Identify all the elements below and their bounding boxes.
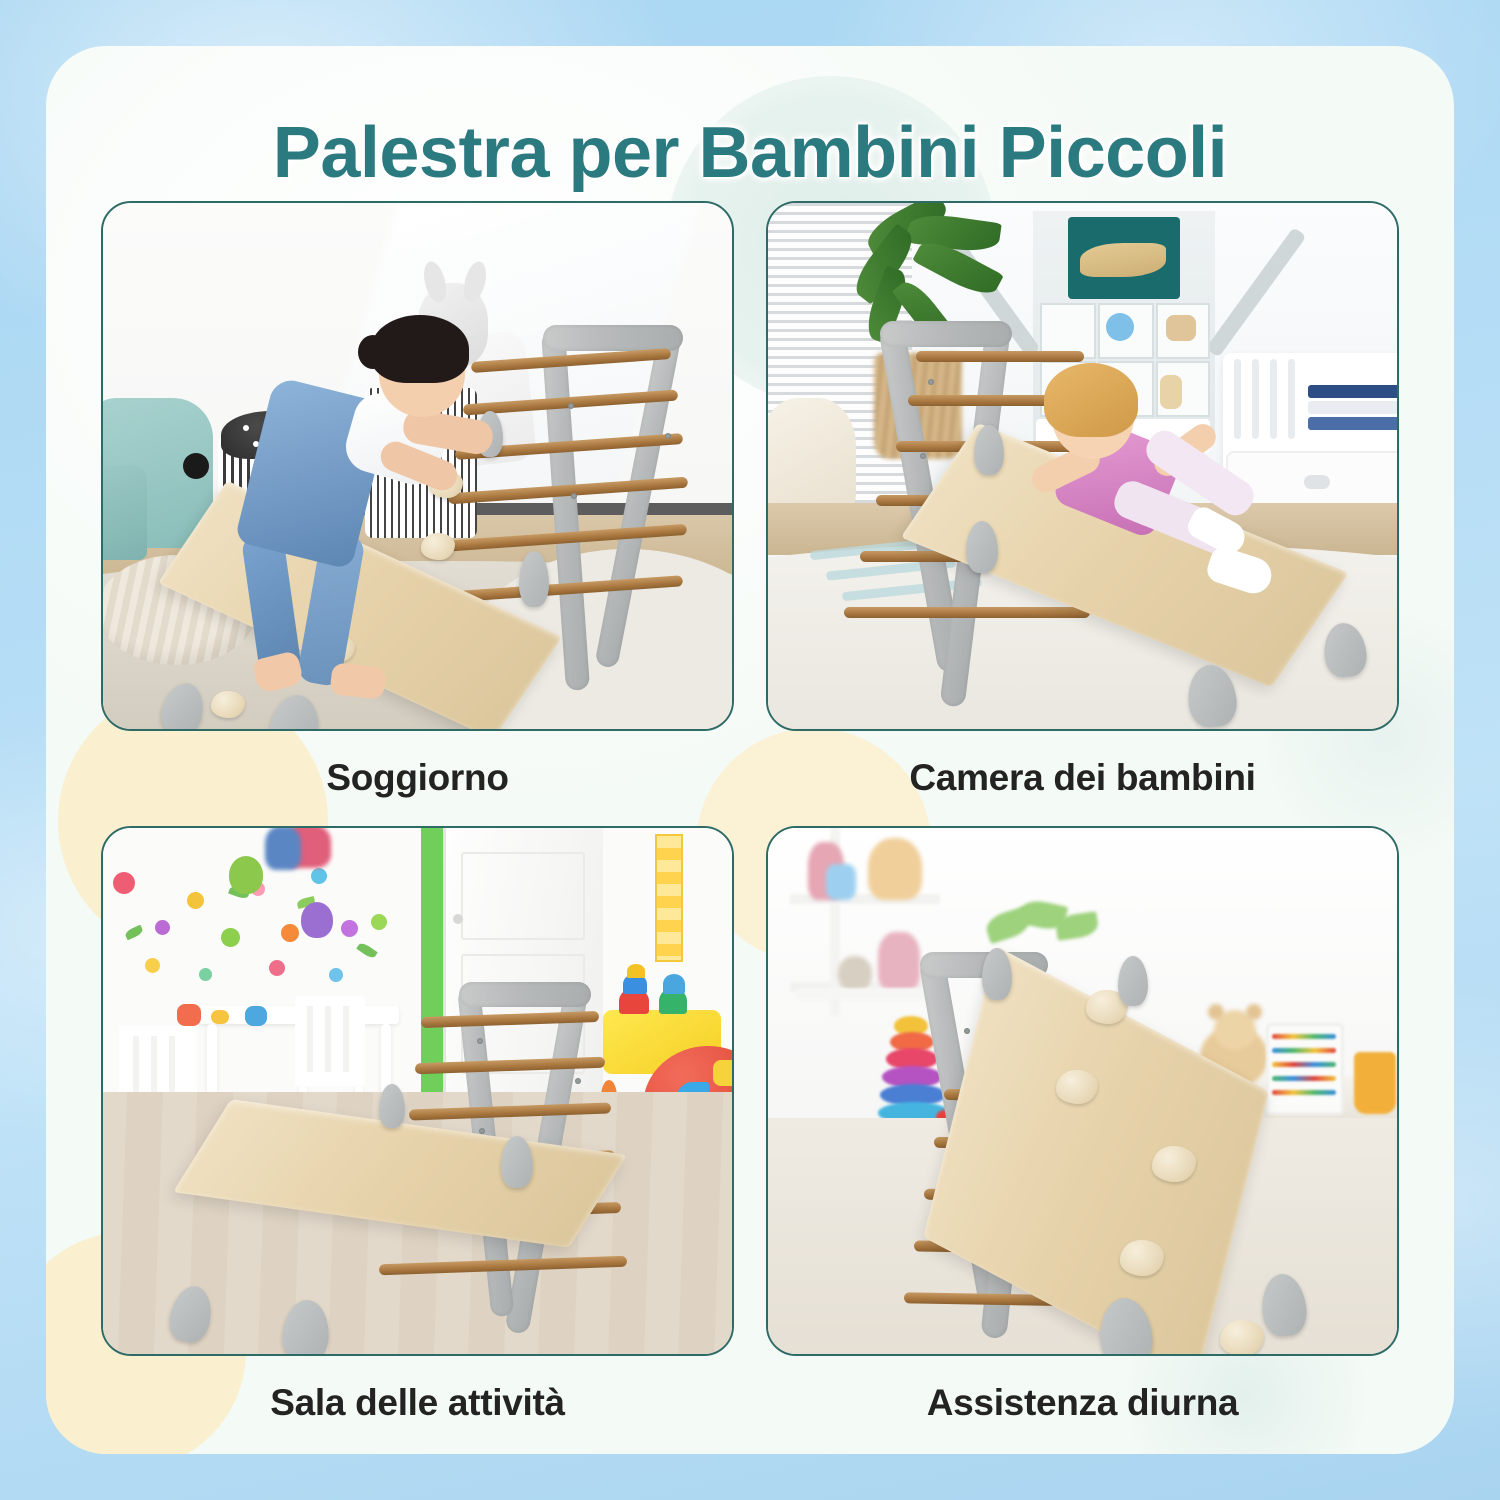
panel-soggiorno: Soggiorno <box>101 201 734 799</box>
panel-assistenza-diurna: Assistenza diurna <box>766 826 1399 1424</box>
caption-sala-attivita: Sala delle attività <box>101 1382 734 1424</box>
scene-daycare <box>768 828 1397 1354</box>
scene-activity-room <box>103 828 732 1354</box>
scene-kids-bedroom <box>768 203 1397 729</box>
photo-assistenza-diurna <box>766 826 1399 1356</box>
panel-camera-bambini: Camera dei bambini <box>766 201 1399 799</box>
caption-camera-bambini: Camera dei bambini <box>766 757 1399 799</box>
shark-plush <box>1080 243 1166 277</box>
poster-root: Palestra per Bambini Piccoli <box>0 0 1500 1500</box>
caption-assistenza-diurna: Assistenza diurna <box>766 1382 1399 1424</box>
photo-camera-bambini <box>766 201 1399 731</box>
page-title: Palestra per Bambini Piccoli <box>46 112 1454 194</box>
content-card: Palestra per Bambini Piccoli <box>46 46 1454 1454</box>
dog-toy <box>766 398 856 518</box>
scene-living-room <box>103 203 732 729</box>
panel-sala-attivita: Sala delle attività <box>101 826 734 1424</box>
photo-soggiorno <box>101 201 734 731</box>
owl-decal <box>229 856 263 894</box>
sofa-arm <box>101 465 147 560</box>
owl-decal <box>301 902 333 938</box>
wall-poster <box>655 834 683 962</box>
pompom <box>183 453 209 479</box>
photo-sala-attivita <box>101 826 734 1356</box>
caption-soggiorno: Soggiorno <box>101 757 734 799</box>
